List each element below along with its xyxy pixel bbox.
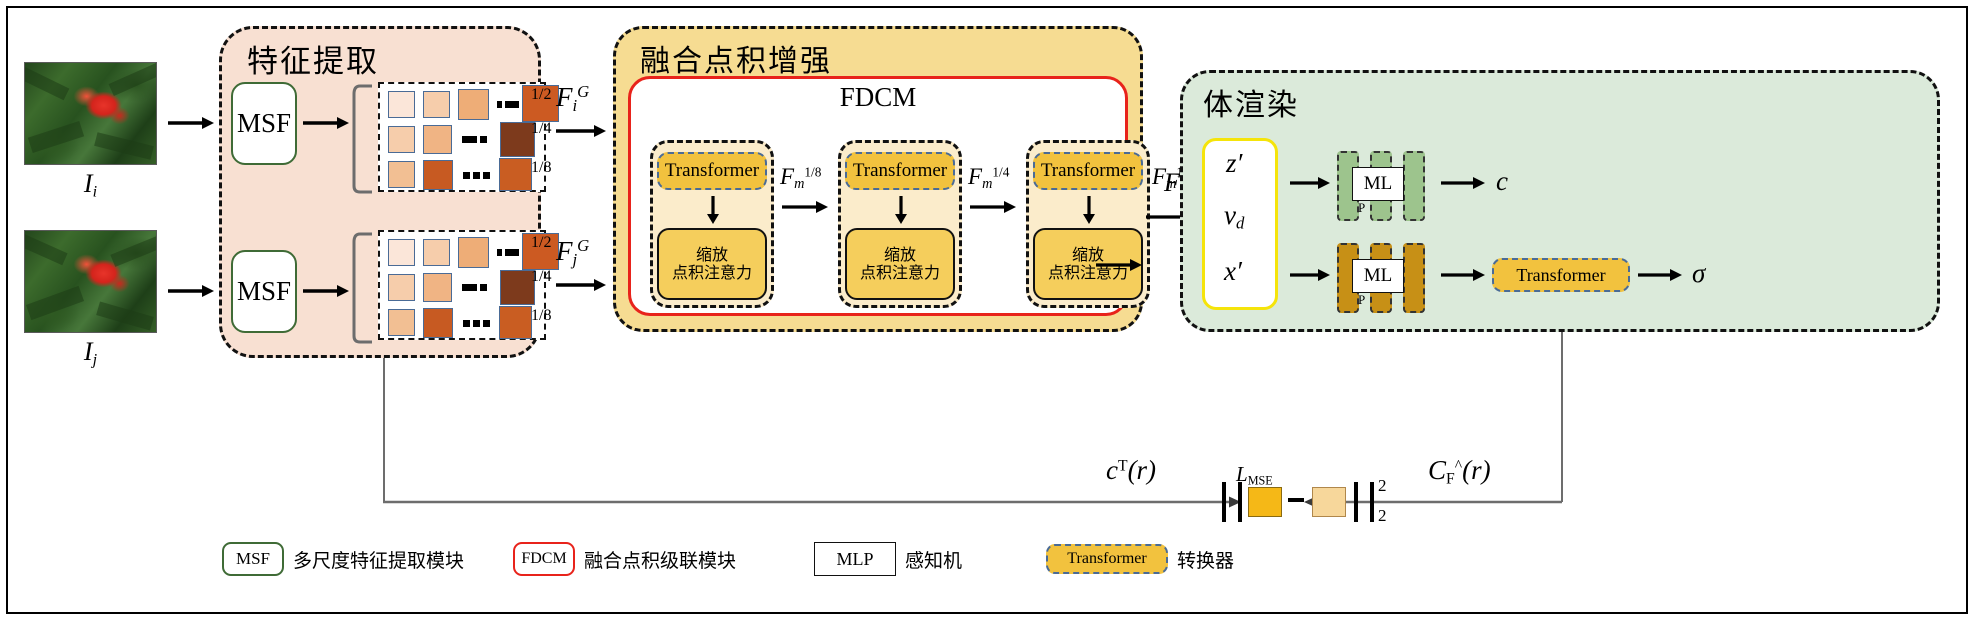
label-fjg-bottom: FjG	[556, 236, 589, 270]
mlp-label-density: ML	[1352, 259, 1404, 293]
volume-input-vd: vd	[1224, 200, 1244, 234]
label-chat-f-r: CF^(r)	[1428, 455, 1491, 488]
loss-norm-bar-outer-left	[1222, 482, 1226, 522]
legend-mlp-icon: MLP	[814, 542, 896, 576]
loss-minus-icon	[1288, 498, 1304, 502]
arrow-mlp-to-transformer	[1441, 268, 1485, 282]
mlp-label-density-top: ML	[1364, 265, 1393, 287]
mlp-label-color-top: ML	[1364, 173, 1393, 195]
arrow-down-module-2	[894, 196, 908, 224]
arrow-mlp-to-c	[1441, 176, 1485, 190]
legend-transformer-text: 转换器	[1177, 546, 1234, 573]
loss-norm-bar-inner-right	[1354, 482, 1358, 522]
transformer-chip-2[interactable]: Transformer	[845, 152, 955, 190]
legend-msf-icon: MSF	[222, 542, 284, 576]
feature-grid-top	[378, 82, 546, 192]
legend-mlp-key: MLP	[836, 549, 873, 570]
label-fm-1-8: Fm1/8	[780, 164, 821, 193]
transformer-chip-volume[interactable]: Transformer	[1492, 258, 1630, 292]
legend-fdcm-key: FDCM	[521, 550, 566, 568]
volume-rendering-title: 体渲染	[1203, 80, 1443, 124]
transformer-chip-volume-label: Transformer	[1516, 265, 1605, 286]
arrow-to-mlp-density	[1290, 268, 1330, 282]
arrow-loss-from-left	[383, 495, 1241, 509]
mlp-label-density-bottom: P	[1358, 292, 1365, 308]
arrow-module-2-to-3	[970, 200, 1016, 214]
legend-item-mlp: MLP 感知机	[814, 542, 962, 576]
legend-transformer-icon: Transformer	[1046, 544, 1168, 574]
scale-label-top-quarter: 1/4	[531, 120, 551, 138]
loss-patch-target	[1312, 487, 1346, 517]
input-image-top	[24, 62, 157, 165]
transformer-chip-1-label: Transformer	[665, 160, 759, 182]
arrow-fig-top-to-fdcm	[556, 124, 606, 138]
arrow-image-top-to-msf	[168, 116, 214, 130]
legend-transformer-key: Transformer	[1067, 550, 1146, 568]
arrow-msf-bottom-out	[303, 284, 349, 298]
volume-output-c: c	[1496, 166, 1508, 197]
loss-line-left-vertical	[383, 358, 385, 502]
arrow-fjg-bottom-to-fdcm	[556, 278, 606, 292]
scale-label-top-half: 1/2	[531, 86, 551, 104]
mlp-label-color-bottom: P	[1358, 200, 1365, 216]
fusion-panel-title: 融合点积增强	[640, 36, 1020, 80]
legend-msf-text: 多尺度特征提取模块	[293, 546, 464, 573]
legend-item-msf: MSF 多尺度特征提取模块	[222, 542, 464, 576]
loss-norm-subscript: 2	[1378, 506, 1387, 526]
attention-box-2[interactable]: 缩放 点积注意力	[845, 228, 955, 300]
input-image-bottom	[24, 230, 157, 333]
arrow-module-1-to-2	[782, 200, 828, 214]
volume-input-z: z′	[1226, 148, 1242, 179]
loss-norm-bar-outer-right	[1370, 482, 1374, 522]
msf-block-top-label: MSF	[237, 108, 291, 139]
transformer-chip-3-label: Transformer	[1041, 160, 1135, 182]
loss-norm-bar-inner-left	[1238, 482, 1242, 522]
volume-output-sigma: σ	[1692, 258, 1705, 289]
feature-grid-bottom	[378, 230, 546, 340]
attention-box-2-line1: 缩放	[884, 246, 916, 264]
msf-block-bottom-label: MSF	[237, 276, 291, 307]
arrow-transformer-to-sigma	[1638, 268, 1682, 282]
label-ct-r: cT(r)	[1106, 455, 1156, 486]
legend-fdcm-text: 融合点积级联模块	[584, 546, 736, 573]
scale-label-top-eighth: 1/8	[531, 159, 551, 177]
loss-norm-superscript: 2	[1378, 476, 1387, 496]
msf-block-bottom[interactable]: MSF	[231, 250, 297, 333]
arrow-down-module-3	[1082, 196, 1096, 224]
input-image-top-label: Ii	[24, 170, 157, 200]
legend-msf-key: MSF	[236, 549, 270, 569]
scale-label-bottom-eighth: 1/8	[531, 307, 551, 325]
msf-block-top[interactable]: MSF	[231, 82, 297, 165]
attention-box-1-line1: 缩放	[696, 246, 728, 264]
attention-box-2-line2: 点积注意力	[860, 264, 940, 282]
mlp-label-color: ML	[1352, 167, 1404, 201]
arrow-image-bottom-to-msf	[168, 284, 214, 298]
arrow-down-module-1	[706, 196, 720, 224]
attention-box-1-line2: 点积注意力	[672, 264, 752, 282]
transformer-chip-1[interactable]: Transformer	[657, 152, 767, 190]
volume-input-x: x′	[1224, 256, 1242, 287]
attention-box-1[interactable]: 缩放 点积注意力	[657, 228, 767, 300]
label-fig-top: FiG	[556, 82, 589, 116]
feature-extraction-title: 特征提取	[247, 36, 507, 81]
loss-patch-predicted	[1248, 487, 1282, 517]
diagram-canvas: Ii Ij 特征提取 MSF MSF	[0, 0, 1976, 622]
legend-mlp-text: 感知机	[905, 546, 962, 573]
scale-label-bottom-half: 1/2	[531, 234, 551, 252]
label-fm-1-4: Fm1/4	[968, 164, 1009, 193]
bracket-bottom	[352, 232, 374, 344]
input-image-bottom-label: Ij	[24, 338, 157, 368]
legend-fdcm-icon: FDCM	[513, 542, 575, 576]
transformer-chip-3[interactable]: Transformer	[1033, 152, 1143, 190]
legend-item-fdcm: FDCM 融合点积级联模块	[513, 542, 736, 576]
transformer-chip-2-label: Transformer	[853, 160, 947, 182]
loss-line-right-vertical	[1561, 332, 1563, 502]
arrow-to-mlp-color	[1290, 176, 1330, 190]
bracket-top	[352, 84, 374, 194]
arrow-msf-top-out	[303, 116, 349, 130]
scale-label-bottom-quarter: 1/4	[531, 268, 551, 286]
fdcm-title: FDCM	[628, 82, 1128, 113]
legend-item-transformer: Transformer 转换器	[1046, 544, 1234, 574]
arrow-module-3-out	[1096, 258, 1142, 272]
